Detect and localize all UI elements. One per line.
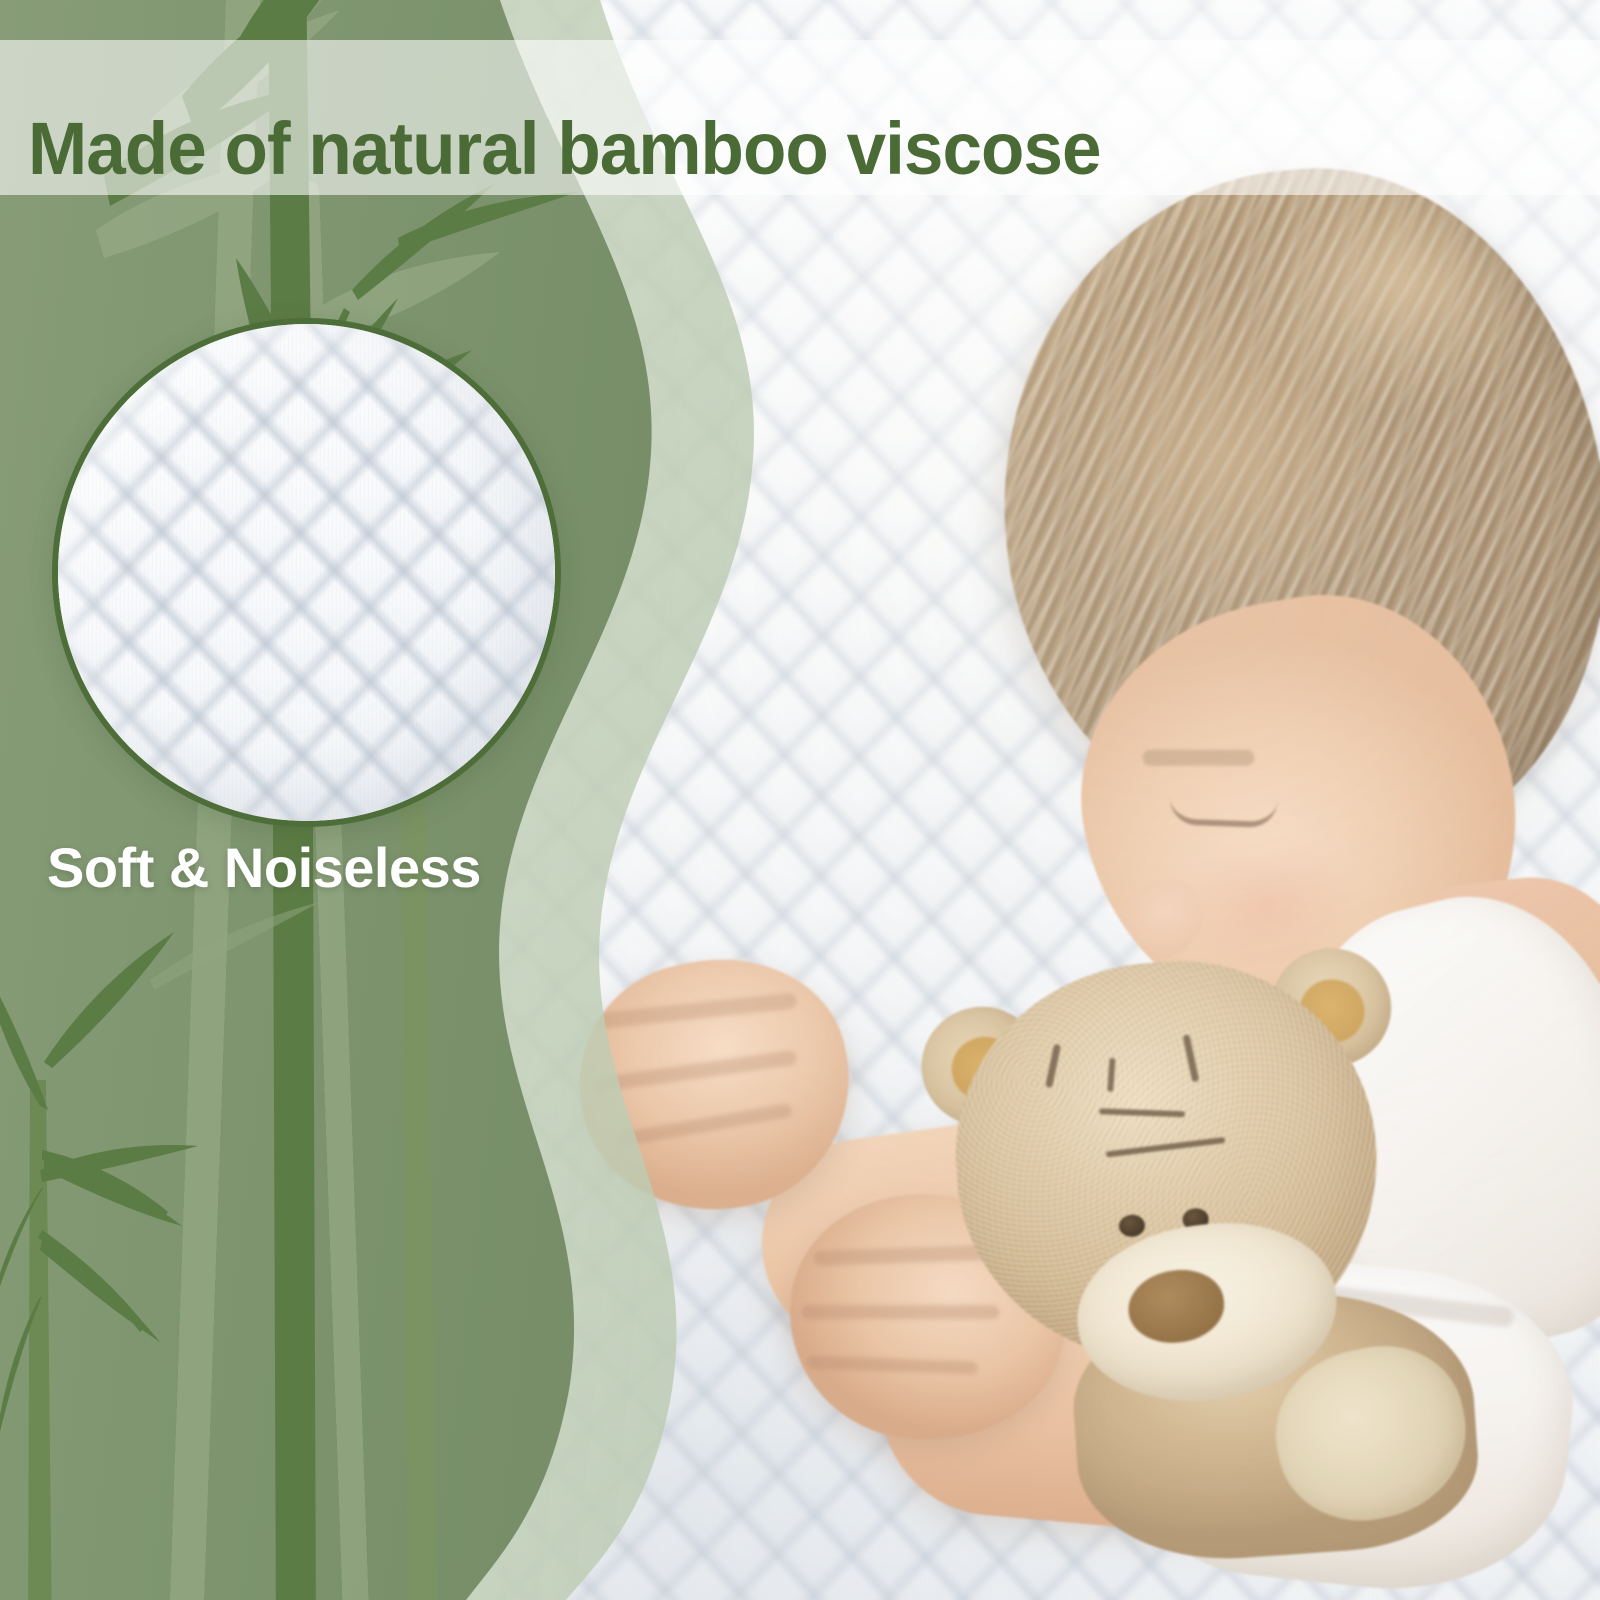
feature-caption: Soft & Noiseless bbox=[47, 840, 481, 896]
fabric-closeup-circle bbox=[52, 318, 561, 827]
page-title: Made of natural bamboo viscose bbox=[28, 112, 1101, 186]
product-feature-image: Made of natural bamboo viscose Soft & No… bbox=[0, 0, 1600, 1600]
bamboo-green-panel bbox=[0, 0, 1600, 1600]
fabric-circle-shading bbox=[58, 324, 555, 821]
